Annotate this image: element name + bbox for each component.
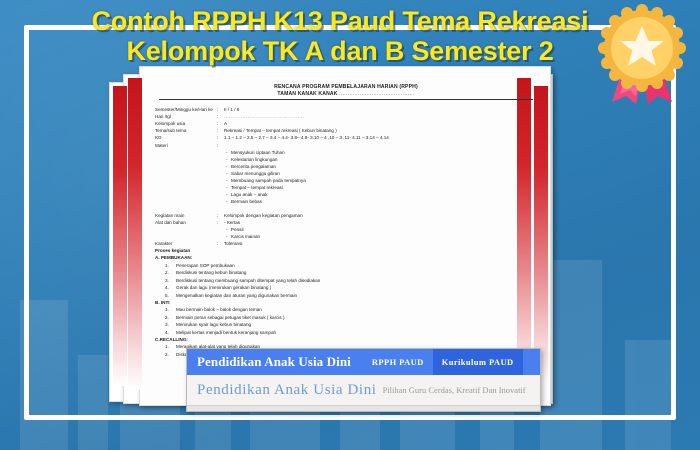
site-title[interactable]: Pendidikan Anak Usia Dini (197, 382, 377, 399)
dash-bullet-icon: - (224, 191, 231, 198)
document-header-line-2-text: TAMAN KANAK KANAK (277, 91, 337, 97)
field-row-tema-sub-tema: Tema/sub tema : Rekreasi / Tempat – temp… (155, 127, 537, 134)
section-list-b: 1.Mau bermain balok – balok dengan teman… (155, 306, 537, 336)
list-item: 2.Berdiskusi tentang kebun binatang (165, 269, 537, 276)
field-value: Kelompok dengan kegiatan pengaman (224, 212, 537, 219)
dash-bullet-icon: - (224, 156, 231, 163)
list-item-label: Pensil (231, 226, 537, 233)
list-item: 1.Penerapan SOP pembukaan (165, 262, 537, 269)
field-row-karakter: Karakter : Toleransi (155, 240, 537, 247)
field-label: Kelompok usia (155, 120, 217, 127)
document-header-line-2-dots: ........................................… (339, 91, 414, 97)
document-header-line-2: TAMAN KANAK KANAK ......................… (155, 91, 537, 97)
field-separator: : (217, 120, 224, 127)
list-item-label: Bermain bebas (231, 198, 537, 205)
site-nav-brand[interactable]: Pendidikan Anak Usia Dini (197, 354, 351, 370)
dash-bullet-icon: - (224, 184, 231, 191)
field-row-semester: Semester/Minggu ke/Hari ke : II / 1 / 6 (155, 106, 537, 113)
field-label: KD (155, 134, 217, 141)
field-value: II / 1 / 6 (224, 106, 537, 113)
list-item: -Sabar menunggu giliran (224, 170, 537, 177)
dash-bullet-icon: - (224, 170, 231, 177)
list-item-label: Berdiskusi tentang membuang sampah ditem… (176, 277, 537, 284)
field-separator: : (217, 240, 224, 247)
field-separator: : (217, 212, 224, 219)
section-list-a: 1.Penerapan SOP pembukaan 2.Berdiskusi t… (155, 262, 537, 299)
list-item: -Lagu anak – anak (224, 191, 537, 198)
field-row-kelompok-usia: Kelompok usia : A (155, 120, 537, 127)
list-item-label: Sabar menunggu giliran (231, 170, 537, 177)
section-title-c: C.RECALLING: (155, 336, 537, 343)
site-tagline: Pilihan Guru Cerdas, Kreatif Dan Inovati… (383, 385, 526, 395)
list-item-number: 3. (165, 277, 176, 284)
red-accent-bar-left-outer (128, 78, 142, 390)
kegiatan-alat-karakter-block: Kegiatan main : Kelompok dengan kegiatan… (155, 212, 537, 248)
field-separator: : (217, 142, 224, 149)
field-separator: : (217, 127, 224, 134)
list-item: 4.Melipat kertas menjadi bentuk keranjan… (165, 329, 537, 336)
list-item: -Karcis mainan (224, 233, 537, 240)
dash-bullet-icon: - (224, 163, 231, 170)
field-value (224, 142, 537, 149)
site-nav-item-rpph-paud[interactable]: RPPH PAUD (363, 349, 433, 375)
proses-kegiatan-label: Proses kegiatan (155, 247, 537, 254)
banner-title: Contoh RPPH K13 Paud Tema Rekreasi Kelom… (60, 6, 620, 66)
list-item-number: 1. (165, 306, 176, 313)
list-item-number: 4. (165, 329, 176, 336)
field-value: Rekreasi / Tempat – tempat rekreasi ( Ke… (224, 127, 537, 134)
list-item-label: Karcis mainan (231, 233, 537, 240)
list-item-label: Bermain peran sebagai petugas tiket masu… (176, 314, 537, 321)
list-item-label: Menirukan syair lagu kebun binatang (176, 321, 537, 328)
dash-bullet-icon: - (224, 233, 231, 240)
list-item-label: Mensyukuri ciptaan Tuhan (231, 149, 537, 156)
list-item-label: Lagu anak – anak (231, 191, 537, 198)
list-item: -Pensil (224, 226, 537, 233)
dash-bullet-icon: - (224, 220, 226, 225)
alat-bahan-list: -Pensil -Karcis mainan (224, 226, 537, 240)
document-header: RENCANA PROGRAM PEMBELAJARAN HARIAN (RPP… (155, 84, 537, 97)
field-label: Kegiatan main (155, 212, 217, 219)
banner-image: Contoh RPPH K13 Paud Tema Rekreasi Kelom… (0, 0, 700, 450)
list-item: -Bermain bebas (224, 198, 537, 205)
site-content-strip (187, 405, 540, 412)
red-accent-bar-left-inner (113, 86, 127, 386)
award-medal-star-icon (590, 2, 694, 106)
site-nav-item-kurikulum-paud[interactable]: Kurikulum PAUD (433, 349, 523, 375)
list-item: 3.Berdiskusi tentang membuang sampah dit… (165, 277, 537, 284)
field-label: Hari /tgl (155, 113, 217, 120)
field-label: Materi (155, 142, 217, 149)
list-item-label: Membuang sampah pada tempatnya (231, 177, 537, 184)
list-item: -Membuang sampah pada tempatnya (224, 177, 537, 184)
dash-bullet-icon: - (224, 226, 231, 233)
list-item-label: Gerak dan lagu (menirukan gerakan binata… (176, 284, 537, 291)
title-line-2: Kelompok TK A dan B Semester 2 (60, 36, 620, 66)
list-item-number: 1. (165, 343, 176, 350)
field-row-alat-dan-bahan: Alat dan bahan : - Kertas (155, 219, 537, 226)
list-item-number: 1. (165, 262, 176, 269)
list-item: 3.Menirukan syair lagu kebun binatang (165, 321, 537, 328)
dash-bullet-icon: - (224, 198, 231, 205)
list-item-number: 5. (165, 292, 176, 299)
list-item-number: 4. (165, 284, 176, 291)
field-value: A (224, 120, 537, 127)
field-row-kegiatan-main: Kegiatan main : Kelompok dengan kegiatan… (155, 212, 537, 219)
section-title-b: B. INTI (155, 299, 537, 306)
list-item-number: 2. (165, 351, 176, 358)
list-item: 4.Gerak dan lagu (menirukan gerakan bina… (165, 284, 537, 291)
list-item: -Bercerita pengalaman (224, 163, 537, 170)
list-item-label: Bercerita pengalaman (231, 163, 537, 170)
field-row-hari-tgl: Hari /tgl : ............................… (155, 113, 537, 120)
site-header: Pendidikan Anak Usia Dini Pilihan Guru C… (187, 375, 540, 405)
field-label: Alat dan bahan (155, 219, 217, 226)
site-navigation-bar: Pendidikan Anak Usia Dini RPPH PAUD Kuri… (187, 349, 540, 375)
list-item: -Mensyukuri ciptaan Tuhan (224, 149, 537, 156)
field-label: Karakter (155, 240, 217, 247)
list-item-label: Melipat kertas menjadi bentuk keranjang … (176, 329, 537, 336)
field-separator: : (217, 219, 224, 226)
website-screenshot-overlay: Pendidikan Anak Usia Dini RPPH PAUD Kuri… (186, 348, 541, 412)
field-label: Tema/sub tema (155, 127, 217, 134)
field-label: Semester/Minggu ke/Hari ke (155, 106, 217, 113)
list-item-number: 2. (165, 269, 176, 276)
field-value: ........................................… (224, 113, 537, 120)
list-item-label: Kelestarian lingkungan (231, 156, 537, 163)
list-item-label: Tempat – tempat rekreasi (231, 184, 537, 191)
field-separator: : (217, 106, 224, 113)
list-item-label: Mau bermain balok – balok dengan teman (176, 306, 537, 313)
dash-bullet-icon: - (224, 177, 231, 184)
list-item: 1.Mau bermain balok – balok dengan teman (165, 306, 537, 313)
list-item: 2.Bermain peran sebagai petugas tiket ma… (165, 314, 537, 321)
field-row-kd: KD : 1.1 – 1.2 – 2.5 – 2.7 – 3.4 – 4.4- … (155, 134, 537, 141)
list-item-label: Mengenalkan kegiatan dan aturan yang dig… (176, 292, 537, 299)
field-value: Toleransi (224, 240, 537, 247)
section-title-a: A. PEMBUKAAN: (155, 254, 537, 261)
field-row-materi: Materi : (155, 142, 537, 149)
list-item: 5.Mengenalkan kegiatan dan aturan yang d… (165, 292, 537, 299)
document-header-rule (159, 99, 533, 100)
list-item-number: 2. (165, 314, 176, 321)
materi-list: -Mensyukuri ciptaan Tuhan -Kelestarian l… (224, 149, 537, 206)
list-item: -Tempat – tempat rekreasi (224, 184, 537, 191)
list-item-label: Penerapan SOP pembukaan (176, 262, 537, 269)
document-header-line-1: RENCANA PROGRAM PEMBELAJARAN HARIAN (RPP… (155, 84, 537, 90)
list-item-number: 3. (165, 321, 176, 328)
field-value: - Kertas (224, 219, 537, 226)
field-separator: : (217, 113, 224, 120)
field-value: 1.1 – 1.2 – 2.5 – 2.7 – 3.4 – 4.4- 3.8– … (224, 134, 537, 141)
list-item: -Kelestarian lingkungan (224, 156, 537, 163)
title-line-1: Contoh RPPH K13 Paud Tema Rekreasi (60, 6, 620, 36)
dash-bullet-icon: - (224, 149, 231, 156)
field-separator: : (217, 134, 224, 141)
list-item-label: Berdiskusi tentang kebun binatang (176, 269, 537, 276)
list-item-label: Kertas (227, 220, 240, 225)
